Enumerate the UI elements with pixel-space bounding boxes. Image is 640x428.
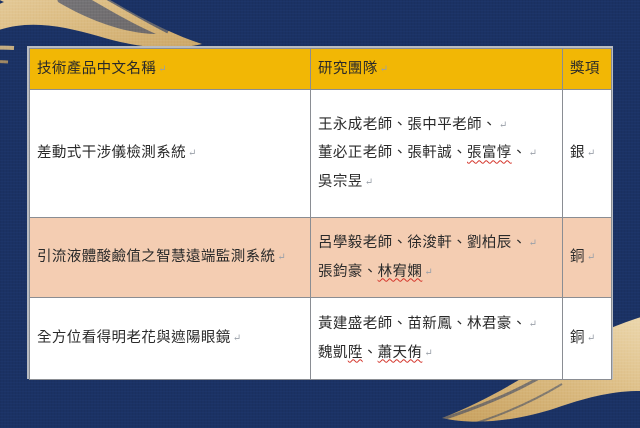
team-line-text: 王永成老師、張中平老師、 <box>318 117 497 133</box>
team-line: 董必正老師、張軒誠、張富惇、↵ <box>318 139 555 167</box>
award-text: 銅 <box>570 330 585 346</box>
product-name-text: 全方位看得明老花與遮陽眼鏡 <box>37 330 231 346</box>
cell-product-name: 全方位看得明老花與遮陽眼鏡↵ <box>30 298 311 380</box>
column-header-product-name-label: 技術產品中文名稱 <box>37 61 156 77</box>
paragraph-mark: ↵ <box>585 333 596 344</box>
paragraph-mark: ↵ <box>585 148 596 159</box>
table-row: 全方位看得明老花與遮陽眼鏡↵ 黃建盛老師、苗新鳳、林君豪、↵ 魏凱陞、蕭天侑↵ … <box>30 298 612 380</box>
paragraph-mark: ↵ <box>527 148 538 159</box>
paragraph-mark: ↵ <box>585 252 596 263</box>
award-text: 銅 <box>570 249 585 265</box>
paragraph-mark: ↵ <box>497 120 508 131</box>
paragraph-mark: ↵ <box>422 348 433 359</box>
cell-research-team: 呂學毅老師、徐浚軒、劉柏辰、↵ 張鈞豪、林宥嫻↵ <box>311 218 563 298</box>
team-line-text: 董必正老師、張軒誠、張富惇、 <box>318 145 527 161</box>
award-text: 銀 <box>570 145 585 161</box>
team-line-text: 黃建盛老師、苗新鳳、林君豪、 <box>318 316 527 332</box>
team-line: 張鈞豪、林宥嫻↵ <box>318 258 555 286</box>
table-row: 引流液體酸鹼值之智慧遠端監測系統↵ 呂學毅老師、徐浚軒、劉柏辰、↵ 張鈞豪、林宥… <box>30 218 612 298</box>
team-line-text: 魏凱陞、蕭天侑 <box>318 345 422 361</box>
misspelled-name: 張富惇 <box>467 145 512 161</box>
team-line: 魏凱陞、蕭天侑↵ <box>318 339 555 367</box>
misspelled-name: 陞 <box>348 345 363 361</box>
misspelled-name: 林宥嫻 <box>378 264 423 280</box>
cell-award: 銅↵ <box>563 218 612 298</box>
cell-product-name: 引流液體酸鹼值之智慧遠端監測系統↵ <box>30 218 311 298</box>
paragraph-mark: ↵ <box>231 333 242 344</box>
table-body: 差動式干涉儀檢測系統↵ 王永成老師、張中平老師、↵ 董必正老師、張軒誠、張富惇、… <box>30 90 612 380</box>
column-header-award: 獎項 <box>563 49 612 90</box>
team-line: 王永成老師、張中平老師、↵ <box>318 111 555 139</box>
product-name-text: 差動式干涉儀檢測系統 <box>37 145 186 161</box>
column-header-award-label: 獎項 <box>570 61 600 77</box>
table-row: 差動式干涉儀檢測系統↵ 王永成老師、張中平老師、↵ 董必正老師、張軒誠、張富惇、… <box>30 90 612 218</box>
table-header: 技術產品中文名稱↵ 研究團隊↵ 獎項 <box>30 49 612 90</box>
paragraph-mark: ↵ <box>527 319 538 330</box>
team-line-text: 張鈞豪、林宥嫻 <box>318 264 422 280</box>
product-name-text: 引流液體酸鹼值之智慧遠端監測系統 <box>37 249 275 265</box>
paragraph-mark: ↵ <box>275 252 286 263</box>
paragraph-mark: ↵ <box>156 64 167 75</box>
cell-product-name: 差動式干涉儀檢測系統↵ <box>30 90 311 218</box>
cell-award: 銅↵ <box>563 298 612 380</box>
cell-research-team: 王永成老師、張中平老師、↵ 董必正老師、張軒誠、張富惇、↵ 吳宗昱↵ <box>311 90 563 218</box>
misspelled-name: 蕭天侑 <box>378 345 423 361</box>
paragraph-mark: ↵ <box>378 64 389 75</box>
award-table: 技術產品中文名稱↵ 研究團隊↵ 獎項 差動式干涉儀檢測系統↵ 王永成老師、張中平… <box>29 48 612 380</box>
paragraph-mark: ↵ <box>422 267 433 278</box>
cell-research-team: 黃建盛老師、苗新鳳、林君豪、↵ 魏凱陞、蕭天侑↵ <box>311 298 563 380</box>
column-header-research-team-label: 研究團隊 <box>318 61 378 77</box>
team-line: 呂學毅老師、徐浚軒、劉柏辰、↵ <box>318 229 555 257</box>
cell-award: 銀↵ <box>563 90 612 218</box>
team-line: 黃建盛老師、苗新鳳、林君豪、↵ <box>318 310 555 338</box>
paragraph-mark: ↵ <box>363 177 374 188</box>
column-header-product-name: 技術產品中文名稱↵ <box>30 49 311 90</box>
paragraph-mark: ↵ <box>186 148 197 159</box>
team-line: 吳宗昱↵ <box>318 168 555 196</box>
table-header-row: 技術產品中文名稱↵ 研究團隊↵ 獎項 <box>30 49 612 90</box>
team-line-text: 呂學毅老師、徐浚軒、劉柏辰、 <box>318 235 527 251</box>
column-header-research-team: 研究團隊↵ <box>311 49 563 90</box>
team-line-text: 吳宗昱 <box>318 174 363 190</box>
paragraph-mark: ↵ <box>527 238 538 249</box>
award-table-container: 技術產品中文名稱↵ 研究團隊↵ 獎項 差動式干涉儀檢測系統↵ 王永成老師、張中平… <box>27 46 613 379</box>
